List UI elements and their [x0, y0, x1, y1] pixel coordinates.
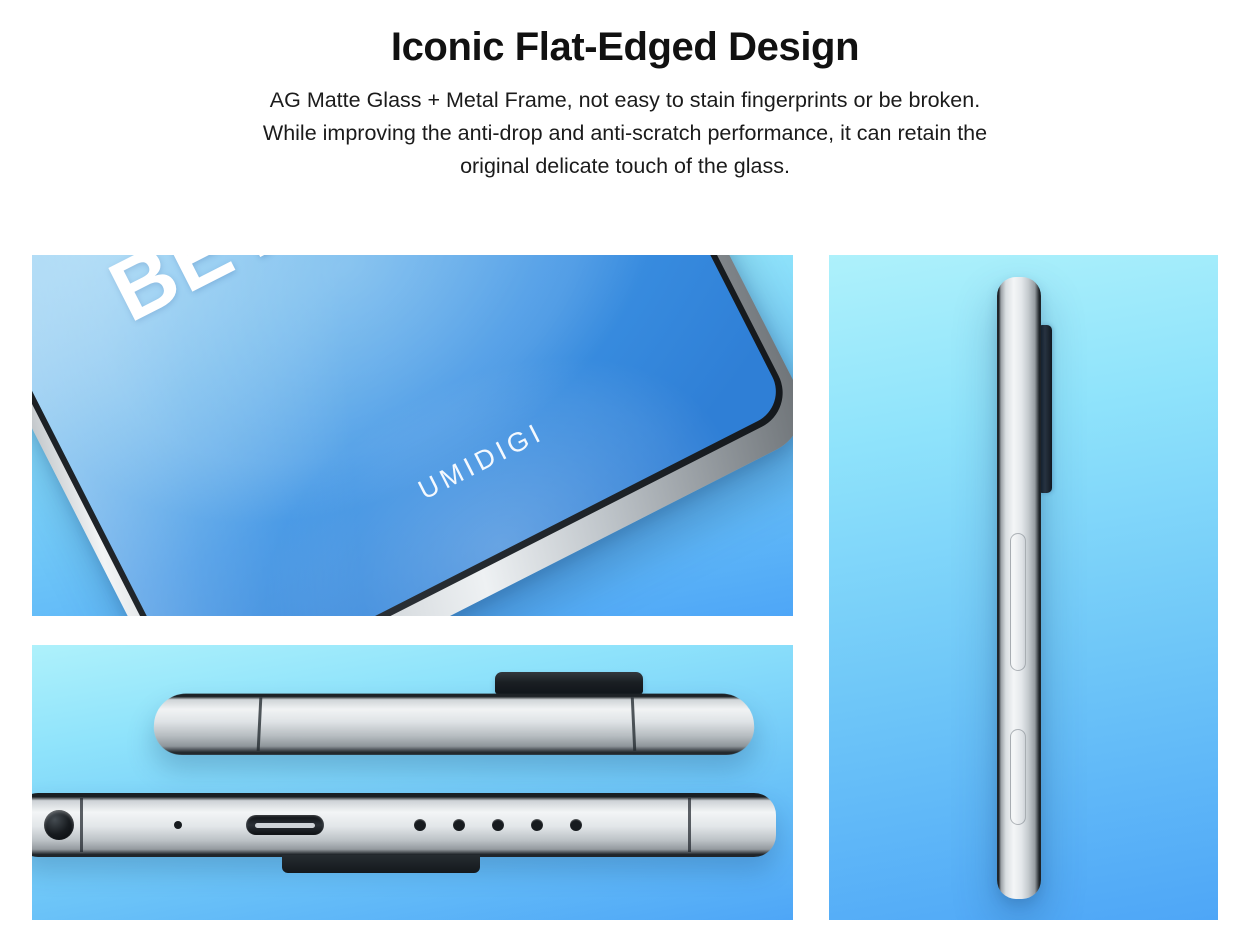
brand-logo-text: UMIDIGI [413, 417, 549, 507]
camera-module-riser [495, 672, 643, 694]
description-line-2: While improving the anti-drop and anti-s… [0, 117, 1250, 150]
header: Iconic Flat-Edged Design AG Matte Glass … [0, 0, 1250, 182]
speaker-hole-icon [570, 819, 582, 831]
product-photo-edge-detail [32, 645, 793, 920]
headphone-jack-icon [44, 810, 74, 840]
power-button [1010, 729, 1026, 825]
microphone-icon [174, 821, 182, 829]
product-feature-page: Iconic Flat-Edged Design AG Matte Glass … [0, 0, 1250, 952]
speaker-hole-icon [492, 819, 504, 831]
screen-wordmark: BEYOND [95, 255, 478, 342]
antenna-band-line [80, 798, 83, 852]
description-line-3: original delicate touch of the glass. [0, 150, 1250, 183]
antenna-band-line [631, 697, 636, 751]
page-title: Iconic Flat-Edged Design [0, 24, 1250, 70]
volume-rocker-button [1010, 533, 1026, 671]
description-line-1: AG Matte Glass + Metal Frame, not easy t… [0, 84, 1250, 117]
camera-module-ledge [282, 855, 480, 873]
antenna-band-line [688, 798, 691, 852]
speaker-hole-icon [453, 819, 465, 831]
page-description: AG Matte Glass + Metal Frame, not easy t… [0, 84, 1250, 182]
speaker-grille-icon [414, 819, 594, 831]
speaker-hole-icon [531, 819, 543, 831]
antenna-band-line [257, 697, 263, 751]
speaker-hole-icon [414, 819, 426, 831]
usb-c-port-icon [246, 815, 324, 835]
phone-top-edge [152, 694, 757, 755]
product-photo-angled-corner: BEYOND UMIDIGI [32, 255, 793, 616]
product-photo-side-profile [829, 255, 1218, 920]
phone-display: BEYOND UMIDIGI [32, 255, 787, 616]
phone-bottom-edge [32, 793, 776, 857]
phone-device-angled: BEYOND UMIDIGI [32, 255, 793, 616]
phone-device-side [997, 277, 1041, 899]
